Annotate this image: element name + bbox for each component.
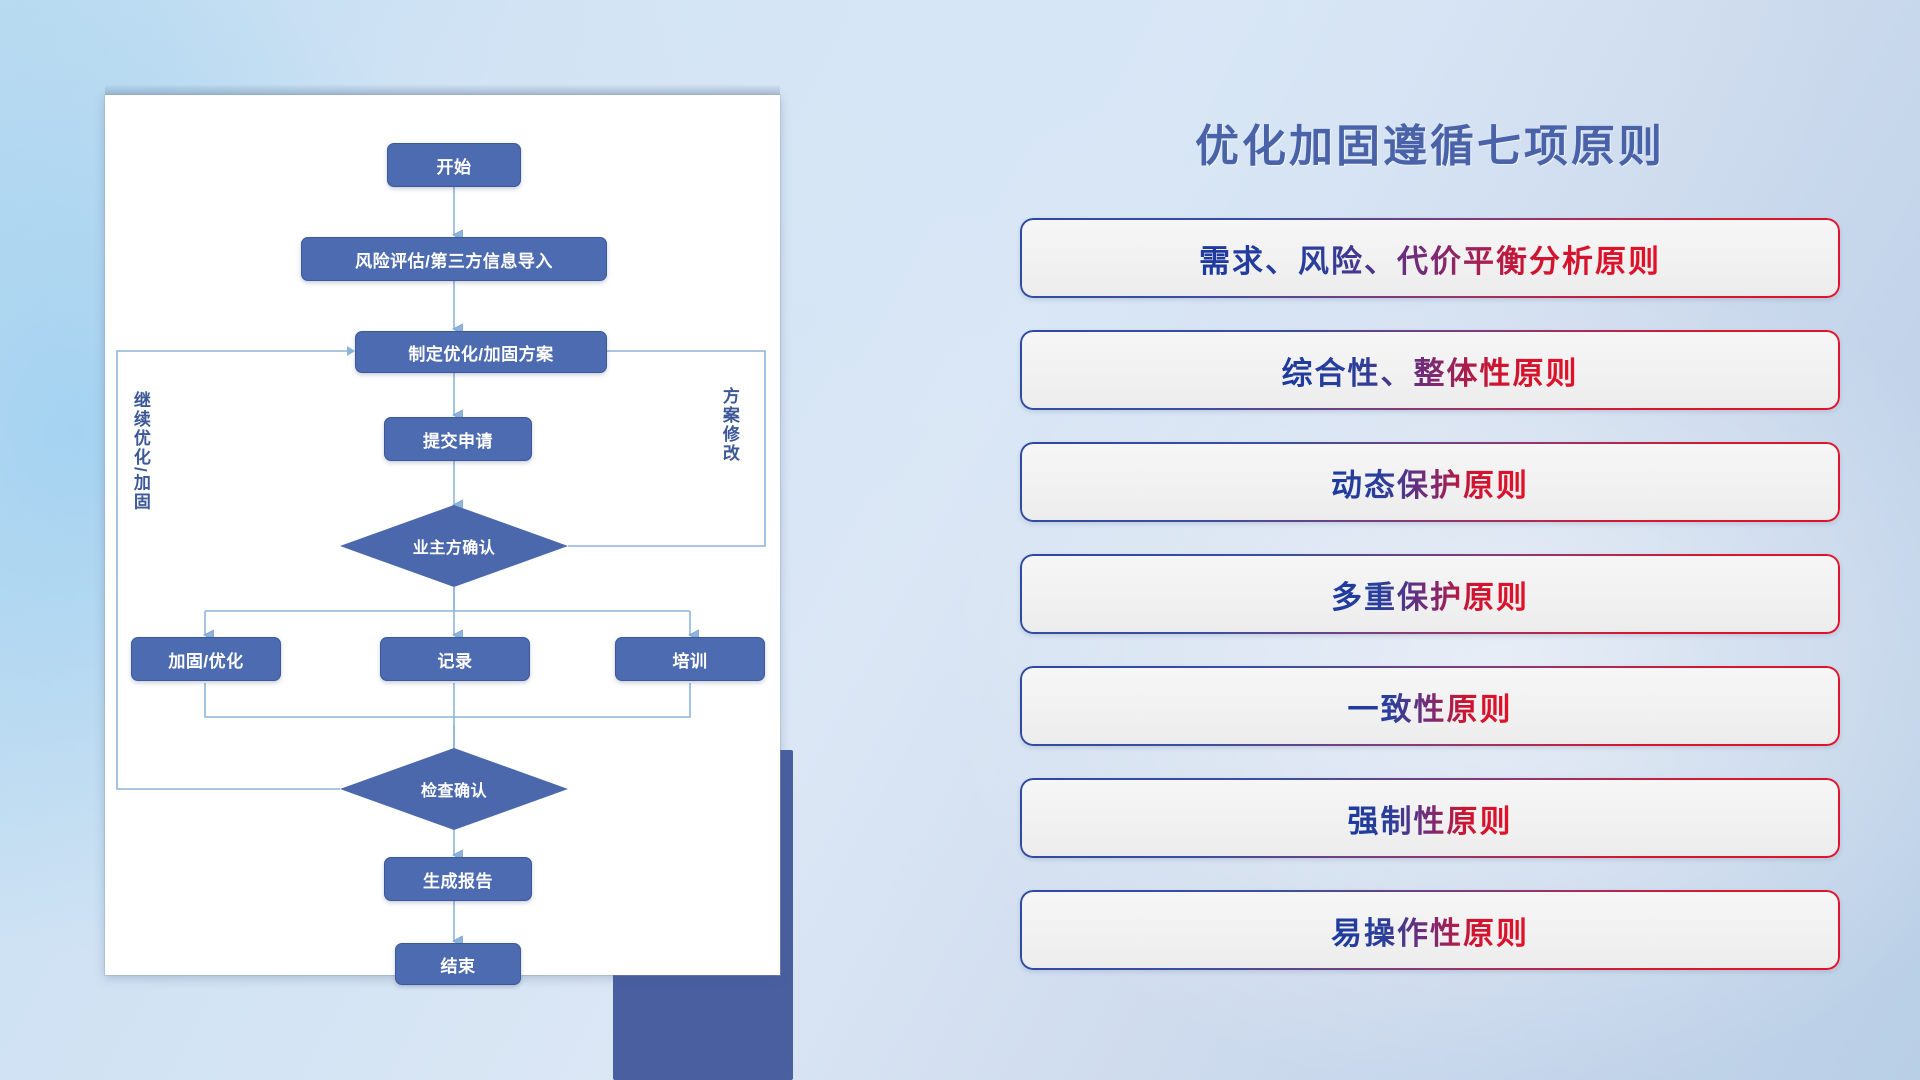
flow-node-submit-application: 提交申请 bbox=[384, 417, 532, 461]
flow-node-generate-report: 生成报告 bbox=[384, 857, 532, 901]
flow-node-label: 记录 bbox=[438, 647, 473, 672]
principle-card[interactable]: 强制性原则 bbox=[1020, 778, 1840, 858]
principle-card[interactable]: 一致性原则 bbox=[1020, 666, 1840, 746]
principle-card-label: 一致性原则 bbox=[1348, 684, 1513, 729]
flow-node-inspection-confirm: 检查确认 bbox=[340, 748, 568, 830]
flow-node-training: 培训 bbox=[615, 637, 765, 681]
principle-card-label: 易操作性原则 bbox=[1331, 908, 1529, 953]
flow-node-label: 开始 bbox=[437, 153, 472, 178]
flow-node-owner-confirm: 业主方确认 bbox=[340, 505, 568, 587]
principle-card-label: 动态保护原则 bbox=[1331, 460, 1529, 505]
flow-node-label: 风险评估/第三方信息导入 bbox=[355, 247, 553, 272]
principle-card[interactable]: 综合性、整体性原则 bbox=[1020, 330, 1840, 410]
flow-node-reinforce-optimize: 加固/优化 bbox=[131, 637, 281, 681]
principle-card[interactable]: 需求、风险、代价平衡分析原则 bbox=[1020, 218, 1840, 298]
principles-card-list: 需求、风险、代价平衡分析原则 综合性、整体性原则 动态保护原则 多重保护原则 一… bbox=[1020, 218, 1840, 1002]
flow-node-label: 生成报告 bbox=[423, 867, 493, 892]
edge-label-plan-revision: 方案修改 bbox=[720, 387, 738, 463]
principle-card-label: 多重保护原则 bbox=[1331, 572, 1529, 617]
flow-node-label: 业主方确认 bbox=[413, 534, 496, 558]
flow-node-start: 开始 bbox=[387, 143, 521, 187]
principle-card[interactable]: 易操作性原则 bbox=[1020, 890, 1840, 970]
flow-node-record: 记录 bbox=[380, 637, 530, 681]
principle-card[interactable]: 动态保护原则 bbox=[1020, 442, 1840, 522]
flow-node-label: 结束 bbox=[441, 952, 476, 977]
principle-card[interactable]: 多重保护原则 bbox=[1020, 554, 1840, 634]
principle-card-label: 强制性原则 bbox=[1348, 796, 1513, 841]
flowchart-card: 开始 风险评估/第三方信息导入 制定优化/加固方案 提交申请 业主方确认 加固/… bbox=[105, 95, 780, 975]
flow-node-label: 加固/优化 bbox=[168, 647, 243, 672]
flowchart-region: 开始 风险评估/第三方信息导入 制定优化/加固方案 提交申请 业主方确认 加固/… bbox=[105, 95, 785, 1005]
panel-title: 优化加固遵循七项原则 bbox=[1020, 110, 1840, 174]
principle-card-label: 综合性、整体性原则 bbox=[1282, 348, 1579, 393]
principle-card-label: 需求、风险、代价平衡分析原则 bbox=[1199, 236, 1661, 281]
edge-label-continue-optimize: 继续优化/加固 bbox=[131, 391, 149, 512]
flow-node-plan: 制定优化/加固方案 bbox=[355, 331, 607, 373]
flow-node-label: 提交申请 bbox=[423, 427, 493, 452]
principles-panel: 优化加固遵循七项原则 需求、风险、代价平衡分析原则 综合性、整体性原则 动态保护… bbox=[1020, 100, 1840, 1000]
flow-node-end: 结束 bbox=[395, 943, 521, 985]
flow-node-risk-assessment: 风险评估/第三方信息导入 bbox=[301, 237, 607, 281]
flow-node-label: 制定优化/加固方案 bbox=[408, 340, 553, 365]
flow-node-label: 培训 bbox=[673, 647, 708, 672]
flow-node-label: 检查确认 bbox=[421, 777, 487, 801]
